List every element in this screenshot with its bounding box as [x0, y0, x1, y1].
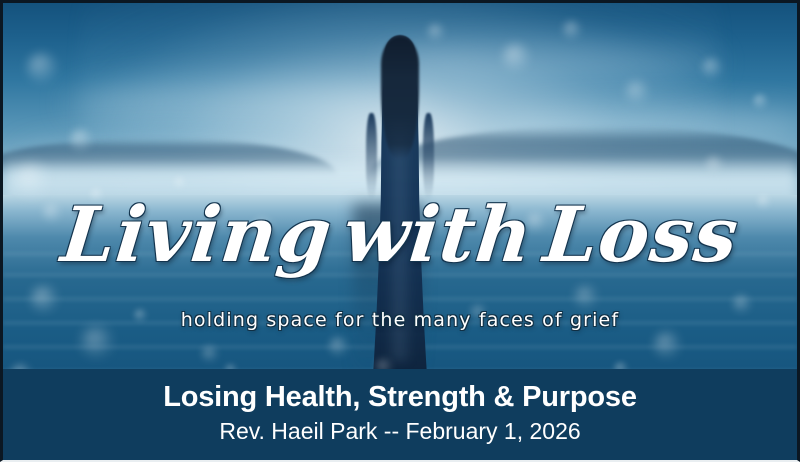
- sermon-title: Losing Health, Strength & Purpose: [163, 381, 637, 413]
- series-title: LivingwithLoss: [3, 199, 797, 272]
- sermon-banner: Losing Health, Strength & Purpose Rev. H…: [3, 369, 797, 460]
- arm-shape: [366, 113, 377, 199]
- series-title-word: with: [340, 199, 536, 272]
- series-title-word: Living: [58, 199, 335, 272]
- arm-shape: [423, 113, 434, 199]
- series-title-word: Loss: [541, 199, 742, 272]
- sermon-slide: LivingwithLoss holding space for the man…: [0, 0, 800, 462]
- series-tagline: holding space for the many faces of grie…: [3, 309, 797, 331]
- hair-shape: [381, 37, 419, 159]
- speaker-and-date: Rev. Haeil Park -- February 1, 2026: [219, 418, 580, 446]
